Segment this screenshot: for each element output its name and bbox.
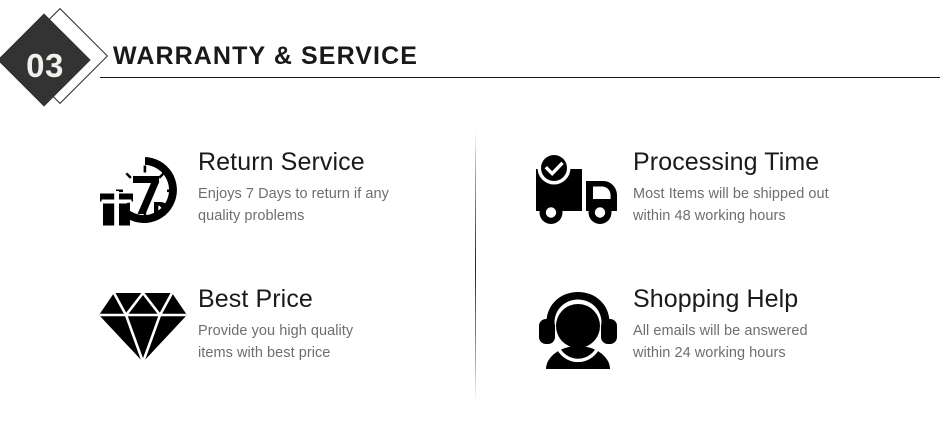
feature-description-line-1: Provide you high quality [198,320,353,342]
feature-item-return-service: Return Service Enjoys 7 Days to return i… [88,148,389,232]
header-divider-rule [100,77,940,78]
feature-item-processing-time: Processing Time Most Items will be shipp… [523,148,829,227]
return-7-days-clock-gift-icon [88,148,198,232]
diamond-gem-icon [88,285,198,363]
section-number-badge: 03 [4,18,100,114]
feature-title: Best Price [198,285,353,313]
feature-description-line-2: quality problems [198,205,389,227]
column-divider [475,130,476,402]
badge-number: 03 [4,38,86,94]
features-grid: Return Service Enjoys 7 Days to return i… [0,130,950,405]
headset-support-agent-icon [523,285,633,369]
feature-text: Shopping Help All emails will be answere… [633,285,808,364]
feature-description-line-2: within 48 working hours [633,205,829,227]
feature-item-shopping-help: Shopping Help All emails will be answere… [523,285,808,369]
feature-title: Return Service [198,148,389,176]
feature-description: Most Items will be shipped out within 48… [633,183,829,227]
page-title: WARRANTY & SERVICE [113,42,418,71]
feature-text: Best Price Provide you high quality item… [198,285,353,364]
feature-description-line-1: All emails will be answered [633,320,808,342]
feature-description: Provide you high quality items with best… [198,320,353,364]
delivery-truck-check-icon [523,148,633,226]
feature-description: All emails will be answered within 24 wo… [633,320,808,364]
feature-title: Processing Time [633,148,829,176]
feature-text: Return Service Enjoys 7 Days to return i… [198,148,389,227]
feature-text: Processing Time Most Items will be shipp… [633,148,829,227]
section-header: 03 WARRANTY & SERVICE [0,0,950,130]
feature-description-line-1: Enjoys 7 Days to return if any [198,183,389,205]
warranty-service-banner: 03 WARRANTY & SERVICE [0,0,950,428]
feature-description: Enjoys 7 Days to return if any quality p… [198,183,389,227]
feature-title: Shopping Help [633,285,808,313]
feature-item-best-price: Best Price Provide you high quality item… [88,285,353,364]
feature-description-line-2: within 24 working hours [633,342,808,364]
feature-description-line-2: items with best price [198,342,353,364]
feature-description-line-1: Most Items will be shipped out [633,183,829,205]
